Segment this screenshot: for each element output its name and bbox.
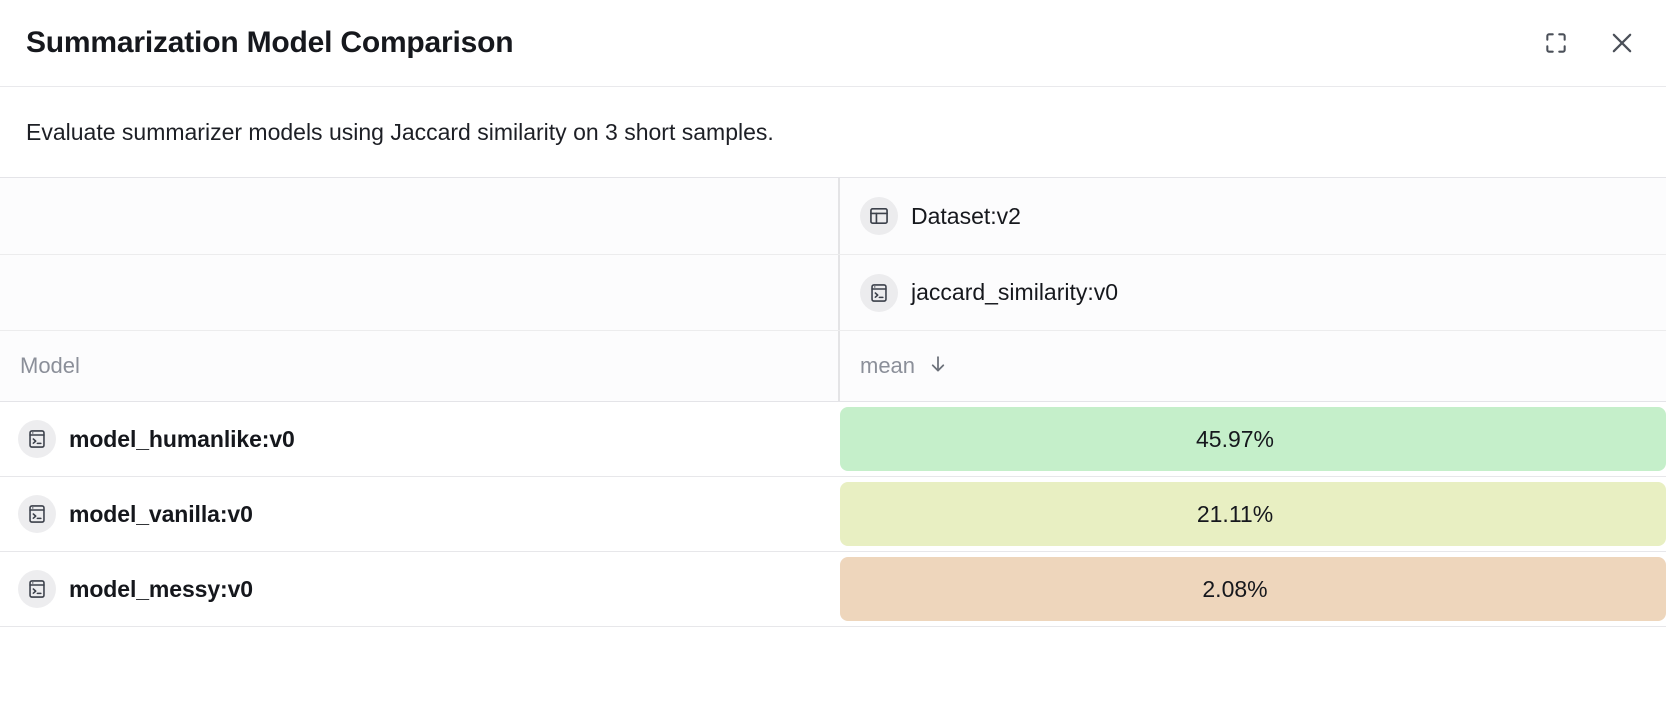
dataset-table-icon <box>860 197 898 235</box>
dataset-chip[interactable]: Dataset:v2 <box>860 197 1021 235</box>
mean-column-label: mean <box>860 353 915 379</box>
model-name: model_messy:v0 <box>69 576 253 603</box>
model-cell[interactable]: model_messy:v0 <box>0 552 838 626</box>
metric-label: jaccard_similarity:v0 <box>911 279 1118 306</box>
model-name: model_vanilla:v0 <box>69 501 253 528</box>
value-bar: 21.11% <box>840 482 1666 546</box>
metric-value-cell[interactable]: 45.97% <box>838 402 1666 476</box>
window-titlebar: Summarization Model Comparison <box>0 0 1666 87</box>
metric-header-cell[interactable]: jaccard_similarity:v0 <box>838 255 1666 330</box>
table-row[interactable]: model_humanlike:v0 45.97% <box>0 402 1666 477</box>
dataset-header-row: Dataset:v2 <box>0 178 1666 254</box>
value-bar: 2.08% <box>840 557 1666 621</box>
model-name: model_humanlike:v0 <box>69 426 295 453</box>
dataset-header-spacer <box>0 178 838 254</box>
table-row[interactable]: model_messy:v0 2.08% <box>0 552 1666 627</box>
terminal-icon <box>18 495 56 533</box>
metric-header-row: jaccard_similarity:v0 <box>0 254 1666 330</box>
table-header-group: Dataset:v2 <box>0 178 1666 402</box>
description-bar: Evaluate summarizer models using Jaccard… <box>0 87 1666 178</box>
dataset-header-cell[interactable]: Dataset:v2 <box>838 178 1666 254</box>
model-column-header[interactable]: Model <box>0 331 838 401</box>
comparison-table: Dataset:v2 <box>0 178 1666 712</box>
column-header-row: Model mean <box>0 330 1666 402</box>
fullscreen-icon[interactable] <box>1534 21 1578 65</box>
dataset-label: Dataset:v2 <box>911 203 1021 230</box>
model-cell[interactable]: model_vanilla:v0 <box>0 477 838 551</box>
close-icon[interactable] <box>1600 21 1644 65</box>
mean-column-header[interactable]: mean <box>838 331 1666 401</box>
metric-value: 21.11% <box>840 501 1630 528</box>
value-bar: 45.97% <box>840 407 1666 471</box>
description-text: Evaluate summarizer models using Jaccard… <box>26 119 774 146</box>
titlebar-actions <box>1534 21 1644 65</box>
mean-column-header-inner[interactable]: mean <box>860 352 949 381</box>
model-column-label: Model <box>20 353 80 379</box>
terminal-icon <box>18 570 56 608</box>
metric-chip[interactable]: jaccard_similarity:v0 <box>860 274 1118 312</box>
metric-value: 45.97% <box>840 426 1630 453</box>
page-title: Summarization Model Comparison <box>26 26 1534 60</box>
metric-value: 2.08% <box>840 576 1630 603</box>
metric-value-cell[interactable]: 2.08% <box>838 552 1666 626</box>
table-body: model_humanlike:v0 45.97% <box>0 402 1666 627</box>
terminal-icon <box>18 420 56 458</box>
table-row[interactable]: model_vanilla:v0 21.11% <box>0 477 1666 552</box>
terminal-icon <box>860 274 898 312</box>
metric-header-spacer <box>0 255 838 330</box>
model-cell[interactable]: model_humanlike:v0 <box>0 402 838 476</box>
metric-value-cell[interactable]: 21.11% <box>838 477 1666 551</box>
summarization-model-comparison-window: Summarization Model Comparison Evaluate … <box>0 0 1666 712</box>
arrow-down-icon[interactable] <box>927 352 949 381</box>
